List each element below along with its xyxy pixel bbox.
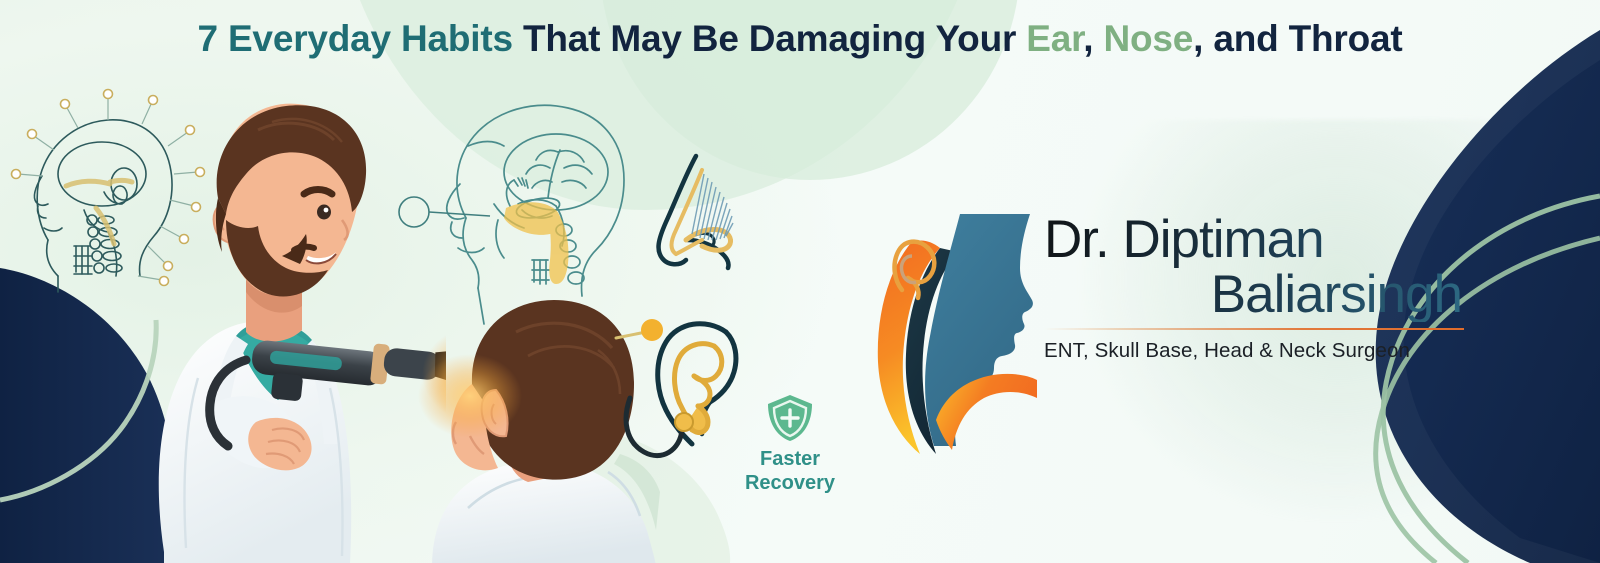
headline-segment-nose: Nose: [1103, 18, 1193, 59]
stethoscope-icon: [612, 392, 702, 472]
recovery-label-line2: Recovery: [745, 472, 835, 494]
doctor-name: Dr. Diptiman Baliarsingh: [1044, 212, 1464, 322]
face-profile-ear-logo-icon: [862, 206, 1037, 461]
headline-segment-2: That May Be Damaging Your: [513, 18, 1026, 59]
examination-light-glow: [418, 354, 522, 438]
brand-logo[interactable]: Dr. Diptiman Baliarsingh ENT, Skull Base…: [862, 206, 1462, 421]
headline-segment-comma: ,: [1083, 18, 1103, 59]
doctor-with-otoscope-illustration: [86, 78, 446, 563]
ent-promo-banner: 7 Everyday Habits That May Be Damaging Y…: [0, 0, 1600, 563]
faster-recovery-badge: Faster Recovery: [700, 392, 880, 495]
headline-segment-1: 7 Everyday Habits: [198, 18, 513, 59]
nose-anatomy-icon: [636, 148, 756, 278]
logo-text-block: Dr. Diptiman Baliarsingh ENT, Skull Base…: [1044, 212, 1464, 363]
headline-segment-ear: Ear: [1026, 18, 1083, 59]
doctor-tagline: ENT, Skull Base, Head & Neck Surgeon: [1044, 339, 1464, 363]
page-title: 7 Everyday Habits That May Be Damaging Y…: [0, 18, 1600, 60]
logo-divider: [1044, 328, 1464, 330]
doctor-eye: [317, 205, 331, 220]
recovery-label-line1: Faster: [760, 448, 820, 470]
doctor-name-line2: Baliarsingh: [1044, 267, 1464, 322]
headline-segment-throat: , and Throat: [1193, 18, 1402, 59]
doctor-name-line1: Dr. Diptiman: [1044, 210, 1324, 269]
pointer-annotation: [616, 319, 663, 341]
shield-plus-icon: [700, 392, 880, 444]
